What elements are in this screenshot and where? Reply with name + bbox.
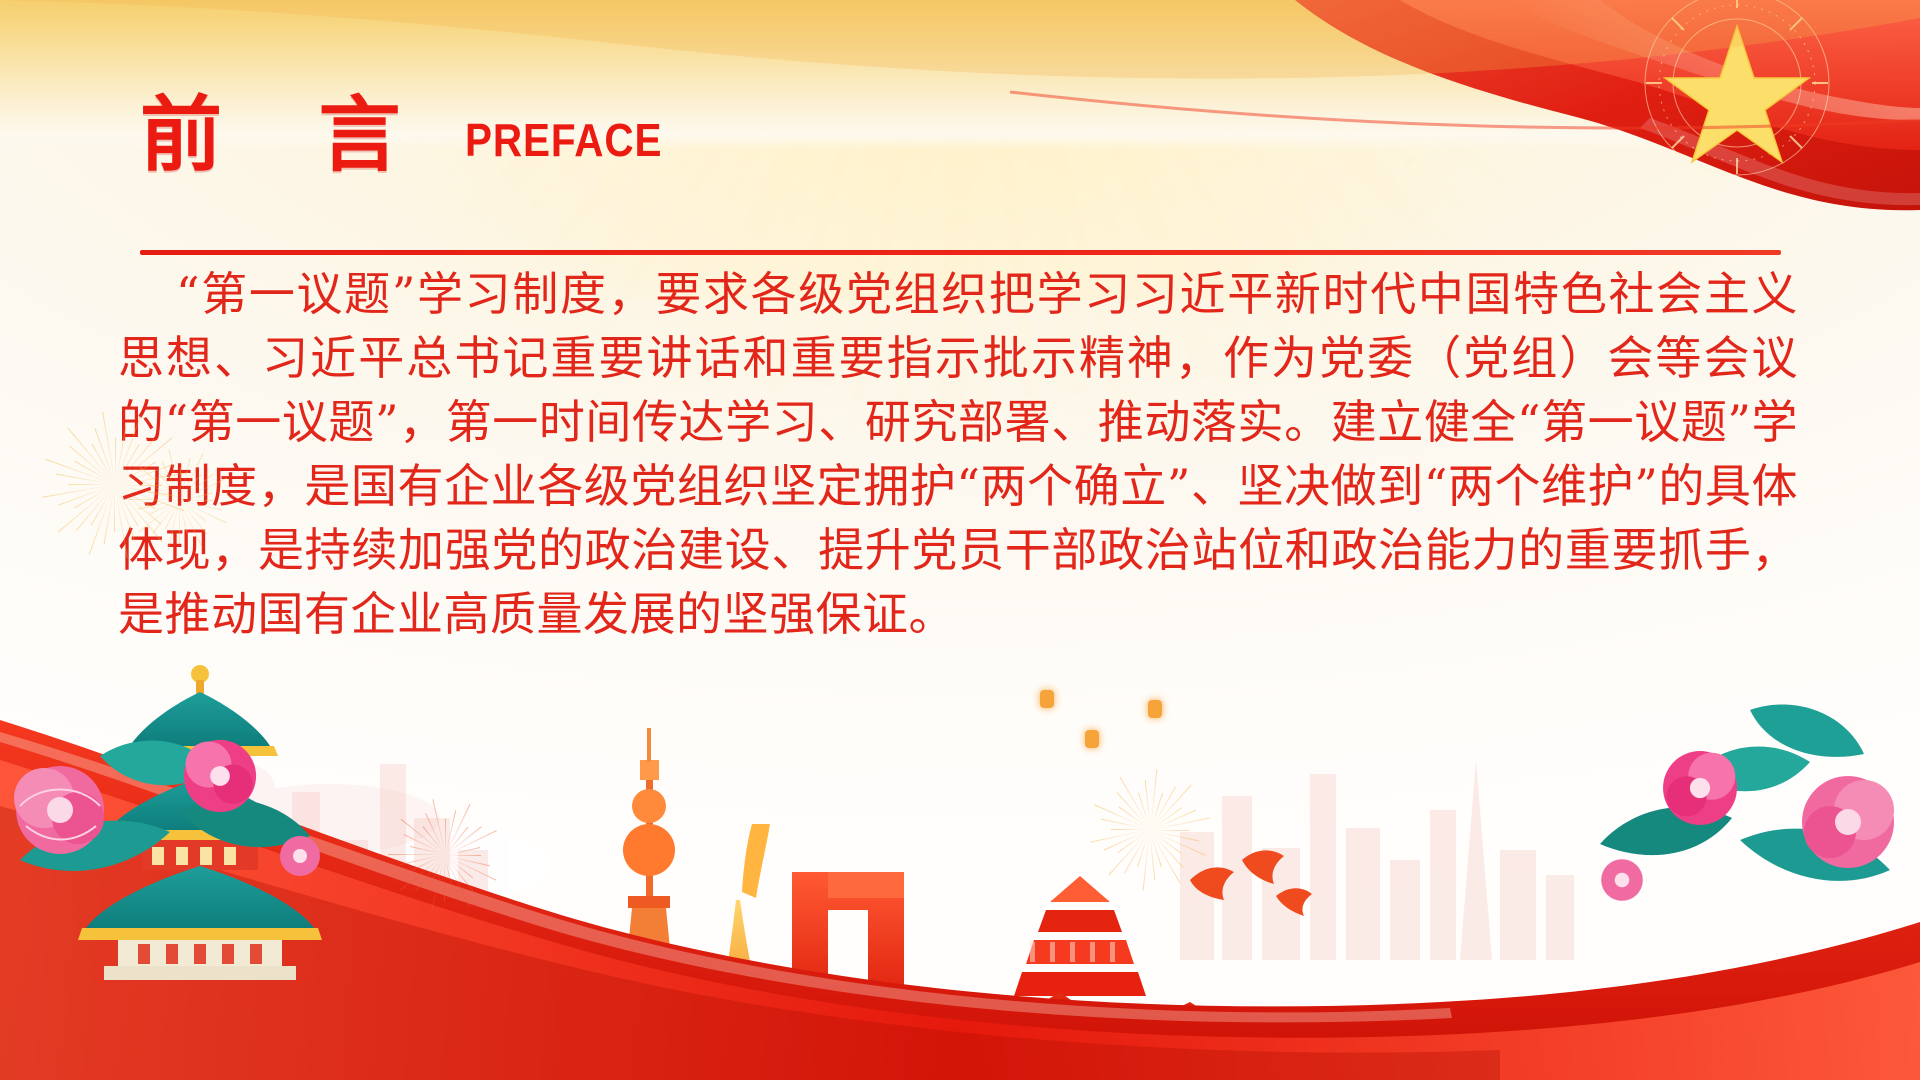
peony-blossoms-left [0, 660, 400, 960]
sky-lantern [1085, 730, 1099, 748]
header-divider [140, 250, 1781, 255]
bottom-illustration [0, 610, 1920, 1080]
firework-burst-right [1080, 760, 1220, 900]
firework-burst-bottom [380, 790, 510, 920]
poster-canvas: 前 言 PREFACE “第一议题”学习制度，要求各级党组织把学习习近平新时代中… [0, 0, 1920, 1080]
page-title-en: PREFACE [465, 113, 662, 176]
page-header: 前 言 PREFACE [140, 96, 689, 176]
sky-lantern [1148, 700, 1162, 718]
peony-blossoms-right [1500, 670, 1920, 970]
page-title-cn: 前 言 [140, 96, 435, 176]
firework-burst-left-2 [120, 440, 240, 560]
preface-paragraph: “第一议题”学习制度，要求各级党组织把学习习近平新时代中国特色社会主义思想、习近… [118, 262, 1798, 646]
sky-lantern [1040, 690, 1054, 708]
